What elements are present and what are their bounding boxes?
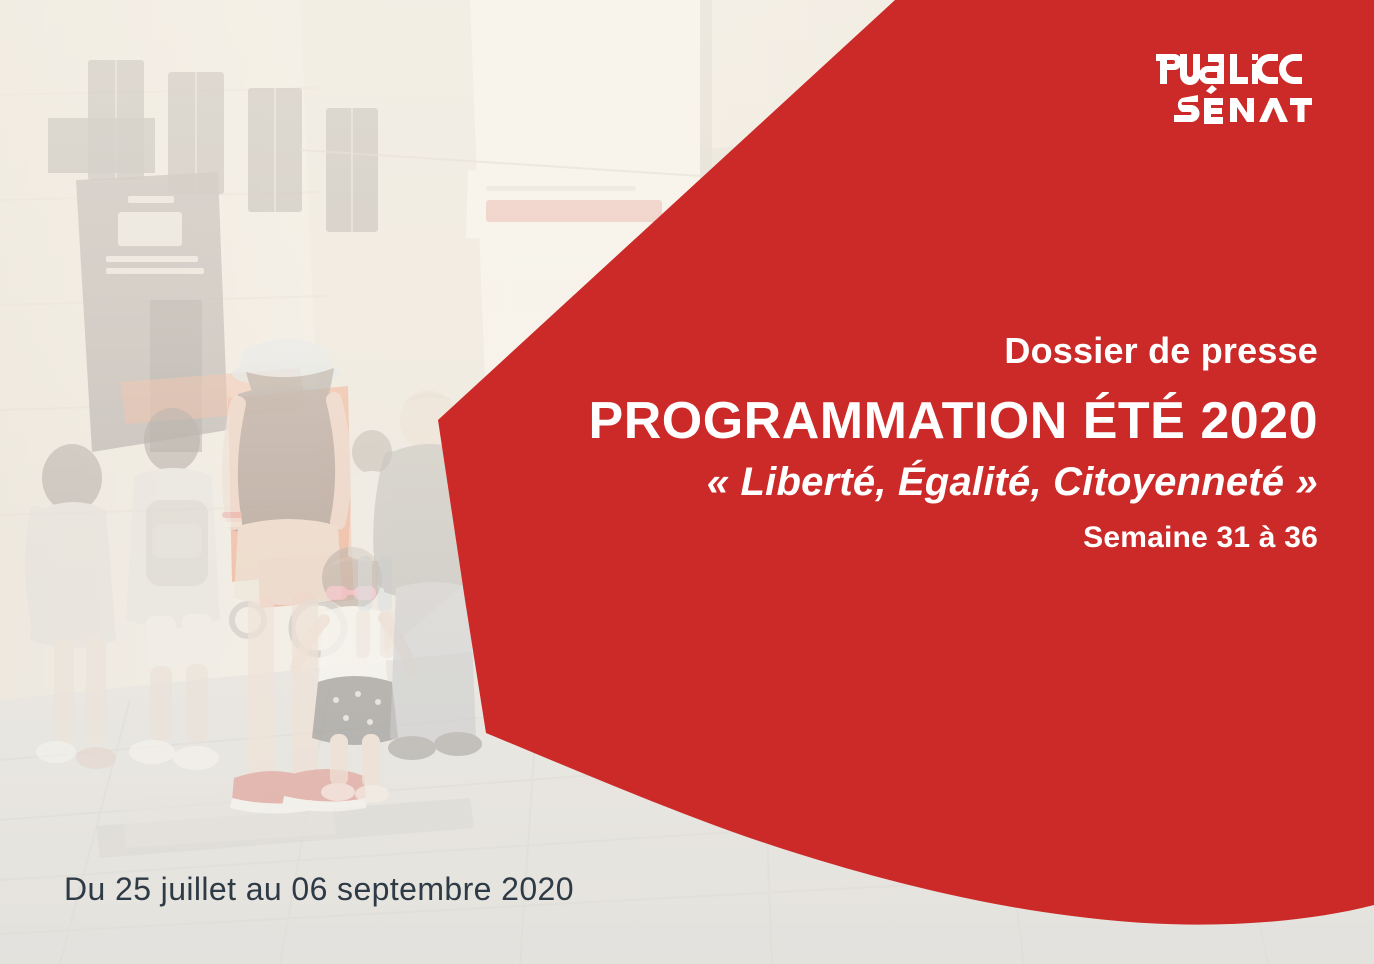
public-senat-logo — [1154, 52, 1318, 124]
page-title: PROGRAMMATION ÉTÉ 2020 — [430, 393, 1318, 450]
page-subtitle: « Liberté, Égalité, Citoyenneté » — [430, 459, 1318, 505]
weeks-range: Semaine 31 à 36 — [430, 521, 1318, 556]
date-range-label: Du 25 juillet au 06 septembre 2020 — [64, 871, 574, 908]
kicker-label: Dossier de presse — [430, 330, 1318, 371]
title-block: Dossier de presse PROGRAMMATION ÉTÉ 2020… — [430, 330, 1318, 555]
press-kit-cover: Dossier de presse PROGRAMMATION ÉTÉ 2020… — [0, 0, 1374, 964]
